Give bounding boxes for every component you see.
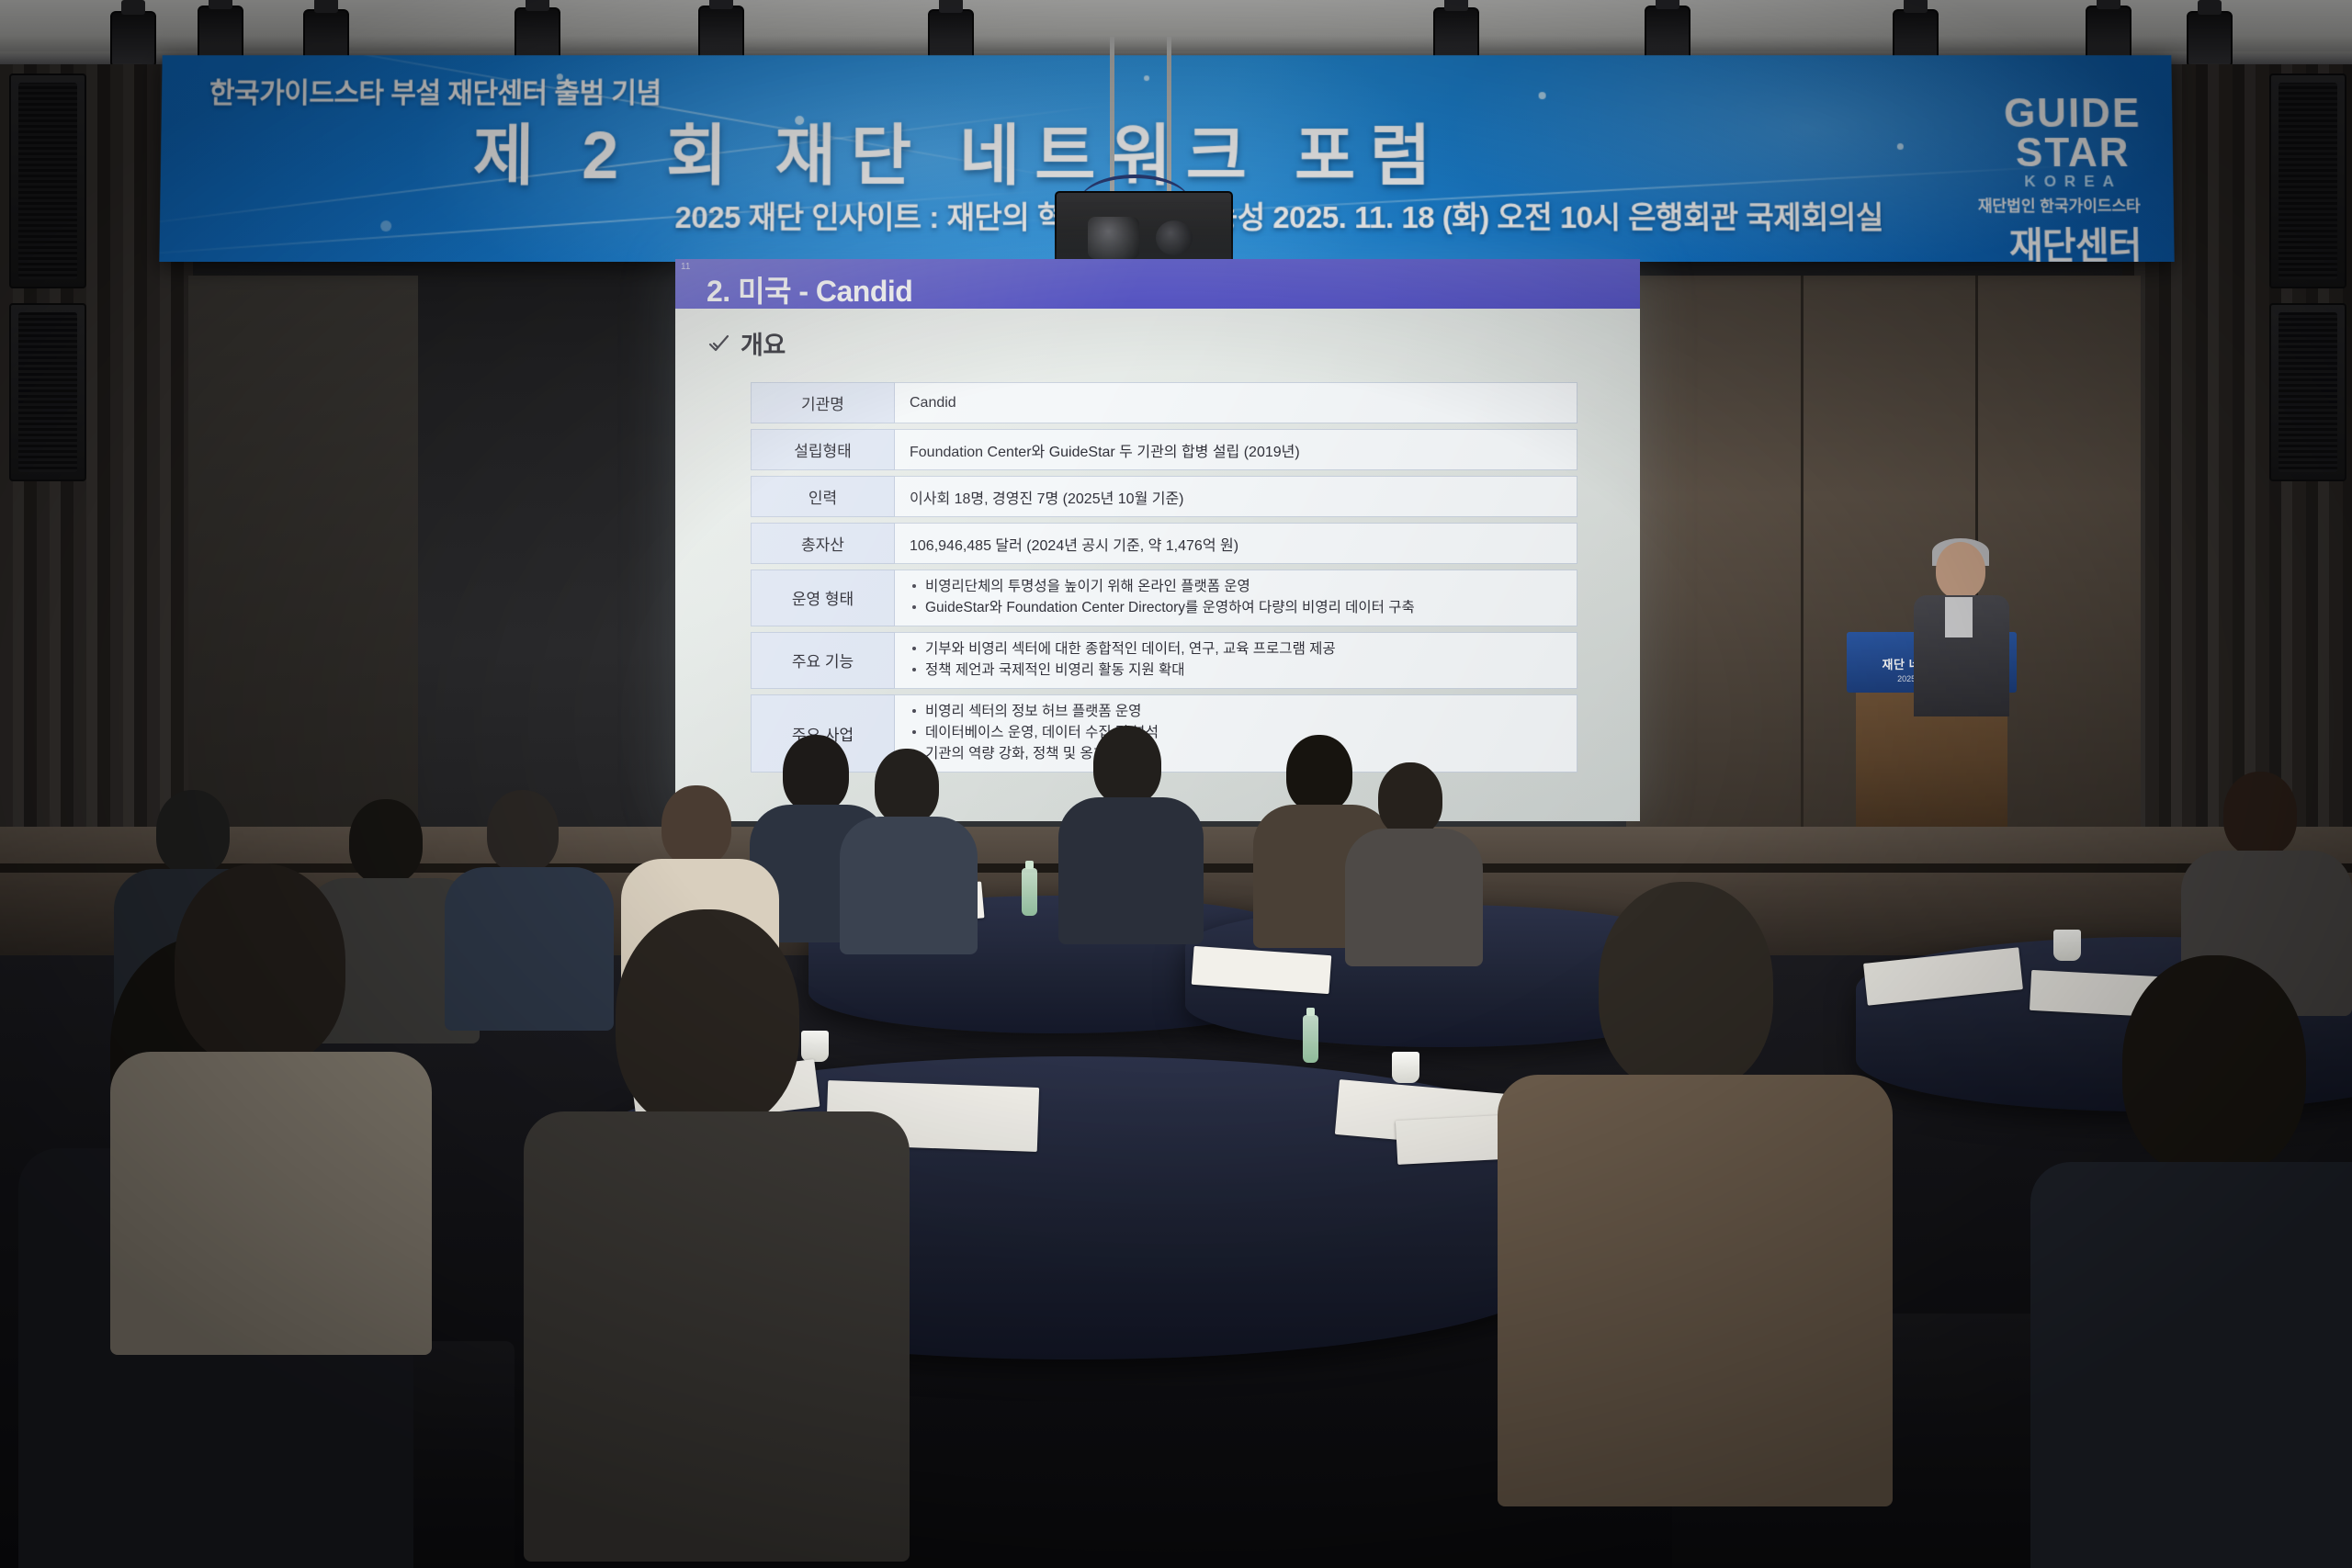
attendee-torso (110, 1052, 432, 1355)
slide-info-table-body: 기관명Candid설립형태Foundation Center와 GuideSta… (751, 382, 1577, 773)
banner-subtitle: 2025 재단 인사이트 : 재단의 혁신과 지속가능성 2025. 11. 1… (674, 193, 1883, 237)
stage-light (698, 6, 744, 62)
slide-title-bar: 11 2. 미국 - Candid (675, 259, 1640, 309)
logo-line-guide: GUIDE (2004, 94, 2142, 133)
banner-dot (1897, 143, 1904, 150)
projector-mount-pole (1110, 37, 1114, 193)
attendee-torso (1058, 797, 1204, 944)
table-row-bullet: 비영리단체의 투명성을 높이기 위해 온라인 플랫폼 운영 (910, 577, 1577, 598)
slide-section-heading: 개요 (708, 325, 786, 361)
attendee-torso (524, 1111, 910, 1562)
attendee-head (2122, 955, 2306, 1176)
wordmark-small: 재단법인 한국가이드스타 (1978, 193, 2141, 216)
table-row: 인력이사회 18명, 경영진 7명 (2025년 10월 기준) (751, 476, 1577, 517)
loudspeaker-left-lower (9, 303, 86, 481)
slide-title: 2. 미국 - Candid (707, 268, 912, 310)
table-row-text: 이사회 18명, 경영진 7명 (2025년 10월 기준) (910, 491, 1184, 507)
stage-light (198, 6, 243, 62)
table-row-bullet: 비영리 섹터의 정보 허브 플랫폼 운영 (910, 702, 1577, 723)
attendee-head (487, 790, 559, 873)
table-row-value: 비영리 섹터의 정보 허브 플랫폼 운영데이터베이스 운영, 데이터 수집 및 … (895, 694, 1577, 773)
wordmark-big: 재단센터 (1978, 216, 2142, 262)
presenter-head (1936, 542, 1985, 599)
table-row-text: Foundation Center와 GuideStar 두 기관의 합병 설립… (910, 445, 1300, 460)
attendee-head (875, 749, 939, 824)
water-bottle (1303, 1015, 1318, 1063)
attendee-torso (445, 867, 614, 1031)
slide-info-table: 기관명Candid설립형태Foundation Center와 GuideSta… (751, 377, 1577, 778)
projector-lens-secondary-icon (1156, 220, 1193, 255)
table-row-bullet: 정책 제언과 국제적인 비영리 활동 지원 확대 (910, 660, 1577, 682)
loudspeaker-right (2269, 73, 2346, 288)
stage-light (2086, 6, 2131, 62)
table-row-key: 운영 형태 (751, 570, 895, 626)
wall-seam (1801, 276, 1804, 827)
table-row-key: 주요 기능 (751, 632, 895, 689)
logo-line-star: STAR (2004, 133, 2142, 173)
table-row-value: 비영리단체의 투명성을 높이기 위해 온라인 플랫폼 운영GuideStar와 … (895, 570, 1577, 626)
attendee-head (2223, 772, 2297, 856)
table-row-bullet-list: 기부와 비영리 섹터에 대한 종합적인 데이터, 연구, 교육 프로그램 제공정… (910, 639, 1577, 682)
guidestar-logo: GUIDE STAR KOREA (2004, 94, 2143, 191)
table-row-key: 설립형태 (751, 429, 895, 470)
water-bottle (1022, 868, 1037, 916)
attendee-torso (1498, 1075, 1893, 1506)
loudspeaker-left (9, 73, 86, 288)
table-row-key: 총자산 (751, 523, 895, 564)
table-row-bullet: 기부와 비영리 섹터에 대한 종합적인 데이터, 연구, 교육 프로그램 제공 (910, 639, 1577, 660)
attendee-head (156, 790, 230, 874)
stage-light (1645, 6, 1690, 62)
projector-lens-icon (1088, 217, 1139, 259)
attendee-head (661, 785, 731, 866)
table-row: 총자산106,946,485 달러 (2024년 공시 기준, 약 1,476억… (751, 523, 1577, 564)
table-row-text: 106,946,485 달러 (2024년 공시 기준, 약 1,476억 원) (910, 538, 1238, 554)
attendee-head (1286, 735, 1352, 812)
attendee-head (1599, 882, 1773, 1091)
banner-dot (1539, 92, 1546, 99)
table-row-value: Foundation Center와 GuideStar 두 기관의 합병 설립… (895, 429, 1577, 470)
table-row-value: Candid (895, 382, 1577, 423)
table-row-key: 기관명 (751, 382, 895, 423)
attendee-head (1378, 762, 1442, 836)
projector-mount-pole (1167, 37, 1171, 193)
table-row: 기관명Candid (751, 382, 1577, 423)
table-row-value: 기부와 비영리 섹터에 대한 종합적인 데이터, 연구, 교육 프로그램 제공정… (895, 632, 1577, 689)
attendee-head (349, 799, 423, 884)
attendee-torso (840, 817, 978, 954)
table-row: 설립형태Foundation Center와 GuideStar 두 기관의 합… (751, 429, 1577, 470)
banner-dot (1144, 75, 1149, 81)
banner-dot (380, 220, 391, 231)
logo-line-korea: KOREA (2005, 173, 2143, 191)
table-row-bullet-list: 비영리 섹터의 정보 허브 플랫폼 운영데이터베이스 운영, 데이터 수집 및 … (910, 702, 1577, 765)
presenter-shirt (1945, 597, 1973, 637)
attendee-head (1093, 726, 1161, 805)
attendee-head (783, 735, 849, 812)
stage-light (110, 11, 156, 68)
paper-cup (2053, 930, 2081, 961)
section-heading-label: 개요 (741, 325, 786, 361)
table-row-value: 이사회 18명, 경영진 7명 (2025년 10월 기준) (895, 476, 1577, 517)
table-row: 주요 기능기부와 비영리 섹터에 대한 종합적인 데이터, 연구, 교육 프로그… (751, 632, 1577, 689)
attendee-head (175, 863, 345, 1066)
attendee-torso (1345, 829, 1483, 966)
presenter (1906, 542, 2017, 716)
guidestar-korean-wordmark: 재단법인 한국가이드스타 재단센터 (1978, 193, 2142, 262)
table-row-text: Candid (910, 395, 956, 411)
table-row-bullet: 데이터베이스 운영, 데이터 수집 및 분석 (910, 723, 1577, 744)
table-row: 주요 사업비영리 섹터의 정보 허브 플랫폼 운영데이터베이스 운영, 데이터 … (751, 694, 1577, 773)
table-row-bullet-list: 비영리단체의 투명성을 높이기 위해 온라인 플랫폼 운영GuideStar와 … (910, 577, 1577, 619)
paper-cup (1392, 1052, 1419, 1083)
attendee-torso (2030, 1162, 2352, 1568)
table-row: 운영 형태비영리단체의 투명성을 높이기 위해 온라인 플랫폼 운영GuideS… (751, 570, 1577, 626)
stage-light (2187, 11, 2233, 68)
loudspeaker-right-lower (2269, 303, 2346, 481)
conference-hall-scene: 한국가이드스타 부설 재단센터 출범 기념 제 2 회 재단 네트워크 포럼 2… (0, 0, 2352, 1568)
paper-cup (801, 1031, 829, 1062)
slide-page-number: 11 (681, 262, 690, 272)
table-row-value: 106,946,485 달러 (2024년 공시 기준, 약 1,476억 원) (895, 523, 1577, 564)
banner-title: 제 2 회 재단 네트워크 포럼 (473, 101, 1446, 197)
attendee-head (616, 909, 799, 1130)
table-row-bullet: 기관의 역량 강화, 정책 및 옹호 (910, 744, 1577, 765)
table-row-bullet: GuideStar와 Foundation Center Directory를 … (910, 598, 1577, 619)
wall-panel-left (188, 276, 418, 845)
table-row-key: 인력 (751, 476, 895, 517)
check-icon (708, 333, 730, 355)
